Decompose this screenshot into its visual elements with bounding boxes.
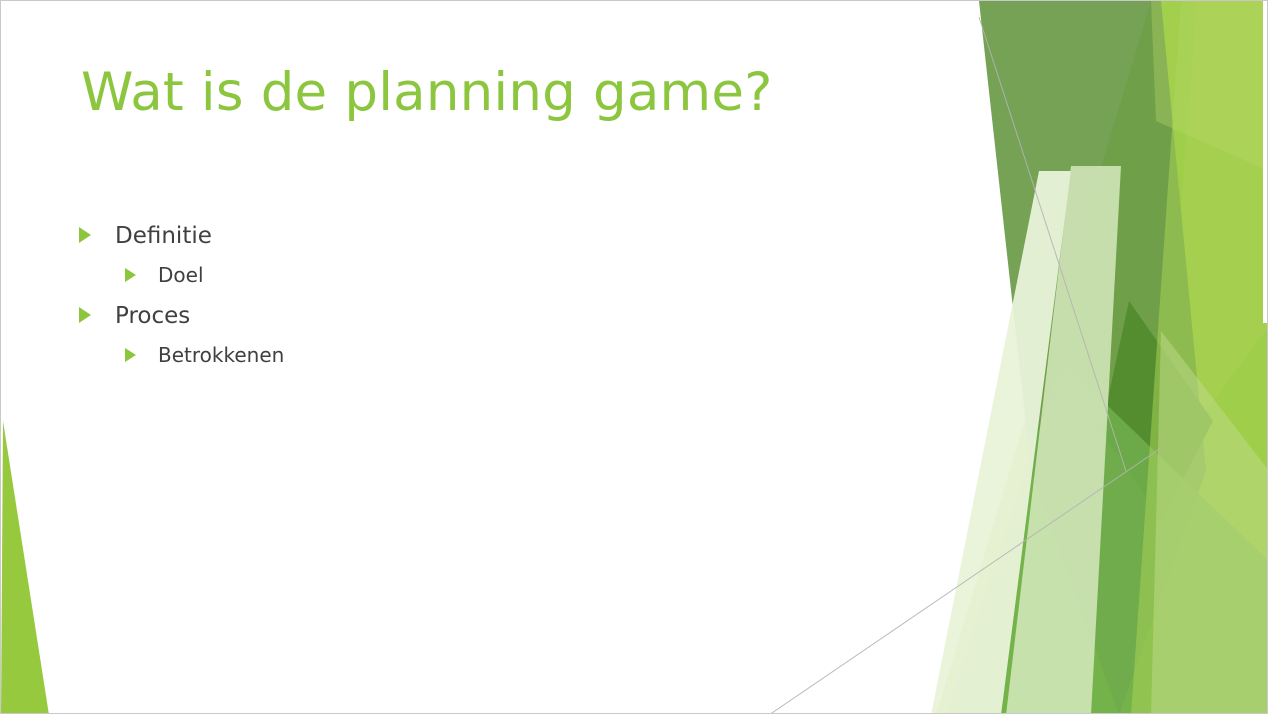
decor-shape-right-lime-facet	[1161, 1, 1268, 471]
triangle-right-icon	[79, 241, 115, 243]
decor-shape-right-base	[936, 1, 1268, 714]
list-item-label: Betrokkenen	[158, 343, 284, 367]
list-item[interactable]: Definitie	[79, 223, 879, 263]
decor-shape-bottom-left-wedge	[1, 421, 49, 714]
triangle-right-icon	[79, 321, 115, 323]
decor-shape-dark-v-band	[979, 1, 1206, 714]
list-item-label: Doel	[158, 263, 204, 287]
page-title: Wat is de planning game?	[81, 63, 861, 122]
decor-shape-pale-highlight-band	[1151, 331, 1268, 714]
bullet-list: Definitie Doel Proces Betrokkenen	[79, 223, 879, 383]
decor-shape-pale-facet	[1006, 166, 1121, 714]
list-item[interactable]: Betrokkenen	[125, 343, 879, 383]
decor-shape-light-overlay	[1131, 1, 1268, 714]
decor-hairline-upper	[979, 17, 1126, 471]
decor-shape-right-edge-white-strip	[1263, 1, 1268, 323]
slide-canvas: Wat is de planning game? Definitie Doel …	[0, 0, 1268, 714]
triangle-right-icon	[125, 280, 158, 282]
decor-shape-upper-light-wedge	[1151, 1, 1268, 171]
decor-shape-mid-green-sweep	[946, 361, 1268, 714]
list-item-label: Definitie	[115, 223, 212, 249]
list-item[interactable]: Doel	[125, 263, 879, 303]
list-item-label: Proces	[115, 303, 190, 329]
triangle-right-icon	[125, 360, 158, 362]
decor-shape-deep-green-core	[1101, 301, 1213, 521]
decor-hairline-lower	[769, 448, 1161, 714]
decor-shape-pale-sliver-left	[931, 171, 1071, 714]
list-item[interactable]: Proces	[79, 303, 879, 343]
